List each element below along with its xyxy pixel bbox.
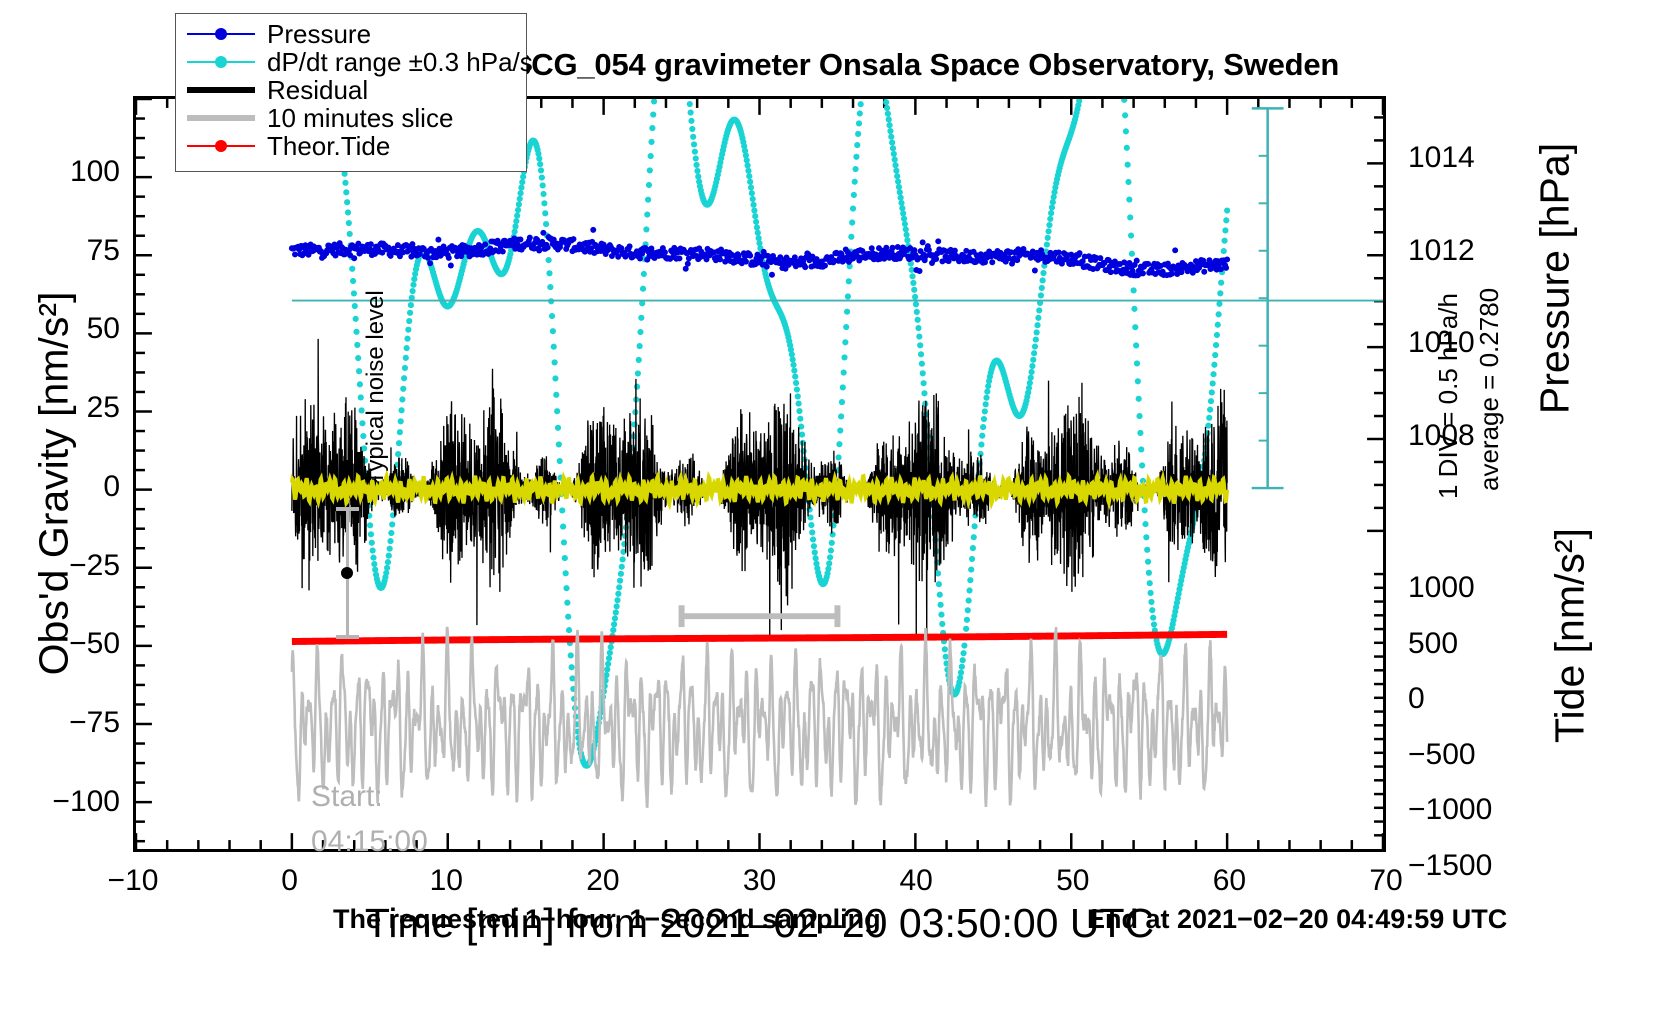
tick-label: 25 — [0, 391, 120, 425]
legend-item-2[interactable]: Residual — [184, 76, 516, 104]
tick-label: −100 — [0, 785, 120, 819]
start-label: Start: — [311, 780, 383, 814]
tick-label: 40 — [856, 864, 976, 898]
legend-label: 10 minutes slice — [258, 103, 453, 134]
y-axis-label-tide: Tide [nm/s²] — [1547, 446, 1594, 826]
tick-label: 70 — [1326, 864, 1446, 898]
sampling-note: The requested 1−hour, 1−second sampling — [333, 904, 881, 935]
noise-level-cap-top — [336, 507, 359, 511]
tick-label: 30 — [700, 864, 820, 898]
tick-label: −500 — [1408, 738, 1548, 772]
tick-label: 1000 — [1408, 571, 1548, 605]
series-theor-tide — [292, 634, 1227, 641]
typical-noise-level-label: Typical noise level — [362, 290, 390, 485]
legend-label: Theor.Tide — [258, 131, 390, 162]
tick-label: 50 — [1013, 864, 1133, 898]
tick-label: −75 — [0, 706, 120, 740]
legend-item-0[interactable]: Pressure — [184, 20, 516, 48]
tick-label: 1012 — [1408, 234, 1548, 268]
tick-label: 60 — [1169, 864, 1289, 898]
figure-canvas: SCG_054 gravimeter Onsala Space Observat… — [0, 0, 1676, 1020]
tick-label: 100 — [0, 155, 120, 189]
legend-swatch-icon — [184, 78, 258, 102]
legend-swatch-icon — [184, 50, 258, 74]
tick-label: −50 — [0, 627, 120, 661]
noise-level-cap-bottom — [336, 635, 359, 639]
start-time: 04:15:00 — [311, 825, 428, 859]
tick-label: −25 — [0, 549, 120, 583]
legend-label: Residual — [258, 75, 368, 106]
legend-swatch-icon — [184, 134, 258, 158]
legend-label: dP/dt range ±0.3 hPa/s — [258, 47, 533, 78]
tick-label: 500 — [1408, 627, 1548, 661]
average-label: average = 0.2780 — [1474, 288, 1505, 491]
legend-item-1[interactable]: dP/dt range ±0.3 hPa/s — [184, 48, 516, 76]
tick-label: 50 — [0, 312, 120, 346]
tick-label: 0 — [230, 864, 350, 898]
tick-label: 75 — [0, 234, 120, 268]
tick-label: −1000 — [1408, 793, 1548, 827]
legend-swatch-icon — [184, 22, 258, 46]
legend-label: Pressure — [258, 19, 371, 50]
legend[interactable]: PressuredP/dt range ±0.3 hPa/sResidual10… — [175, 13, 527, 172]
tick-label: 0 — [0, 470, 120, 504]
plot-svg — [136, 99, 1383, 849]
noise-level-dot — [341, 567, 353, 579]
series-10min-slice — [292, 627, 1227, 807]
tick-label: 20 — [543, 864, 663, 898]
page-title: SCG_054 gravimeter Onsala Space Observat… — [420, 47, 1430, 83]
div-scale-label: 1 DIV = 0.5 hPa/h — [1433, 293, 1464, 499]
legend-item-4[interactable]: Theor.Tide — [184, 132, 516, 160]
tick-label: −10 — [73, 864, 193, 898]
tick-label: 0 — [1408, 682, 1548, 716]
plot-area: Typical noise level Start: 04:15:00 The … — [133, 96, 1386, 852]
legend-swatch-icon — [184, 106, 258, 130]
tick-label: 10 — [386, 864, 506, 898]
end-time-note: End at 2021−02−20 04:49:59 UTC — [1087, 904, 1507, 935]
legend-item-3[interactable]: 10 minutes slice — [184, 104, 516, 132]
tick-label: 1014 — [1408, 141, 1548, 175]
